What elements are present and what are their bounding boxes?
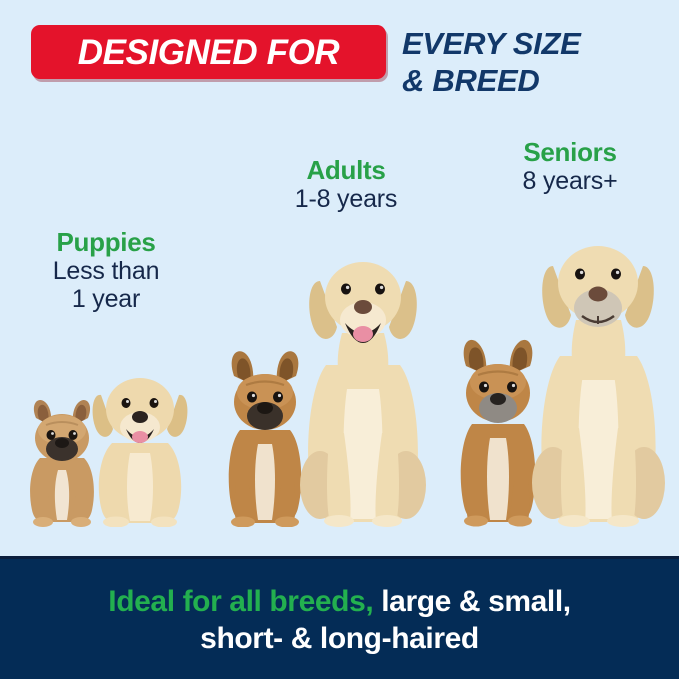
group-label-seniors: Seniors 8 years+ bbox=[478, 138, 662, 195]
group-subtitle-adults: 1-8 years bbox=[248, 185, 444, 213]
group-subtitle-puppies: Less than 1 year bbox=[18, 257, 194, 313]
group-subtitle-seniors-line-1: 8 years+ bbox=[523, 167, 618, 195]
bottom-banner: Ideal for all breeds, large & small, sho… bbox=[0, 556, 679, 679]
banner-line-2: short- & long-haired bbox=[200, 621, 479, 658]
group-label-adults: Adults 1-8 years bbox=[248, 156, 444, 213]
banner-line-1: Ideal for all breeds, large & small, bbox=[108, 584, 570, 621]
group-title-adults: Adults bbox=[248, 156, 444, 185]
headline: EVERY SIZE & BREED bbox=[402, 26, 672, 99]
badge-label: DESIGNED FOR bbox=[31, 25, 386, 79]
header: DESIGNED FOR EVERY SIZE & BREED bbox=[0, 0, 679, 130]
group-subtitle-puppies-line-2: 1 year bbox=[18, 285, 194, 313]
labrador-adult-photo bbox=[290, 237, 435, 527]
group-subtitle-adults-line-1: 1-8 years bbox=[295, 185, 397, 213]
group-label-puppies: Puppies Less than 1 year bbox=[18, 228, 194, 313]
dog-size-comparison-stage: Puppies Less than 1 year Adults 1-8 year… bbox=[0, 130, 679, 556]
group-title-puppies: Puppies bbox=[18, 228, 194, 257]
headline-line-2: & BREED bbox=[402, 63, 672, 100]
group-subtitle-seniors: 8 years+ bbox=[478, 167, 662, 195]
infographic-page: DESIGNED FOR EVERY SIZE & BREED Puppies … bbox=[0, 0, 679, 679]
banner-line-1-white: large & small, bbox=[373, 585, 570, 618]
group-subtitle-puppies-line-1: Less than bbox=[53, 257, 160, 285]
labrador-puppy-photo bbox=[84, 357, 196, 527]
group-title-seniors: Seniors bbox=[478, 138, 662, 167]
banner-line-1-green: Ideal for all breeds, bbox=[108, 585, 373, 618]
headline-line-1: EVERY SIZE bbox=[402, 26, 581, 61]
labrador-senior-photo bbox=[522, 220, 674, 527]
designed-for-badge: DESIGNED FOR bbox=[31, 25, 386, 79]
